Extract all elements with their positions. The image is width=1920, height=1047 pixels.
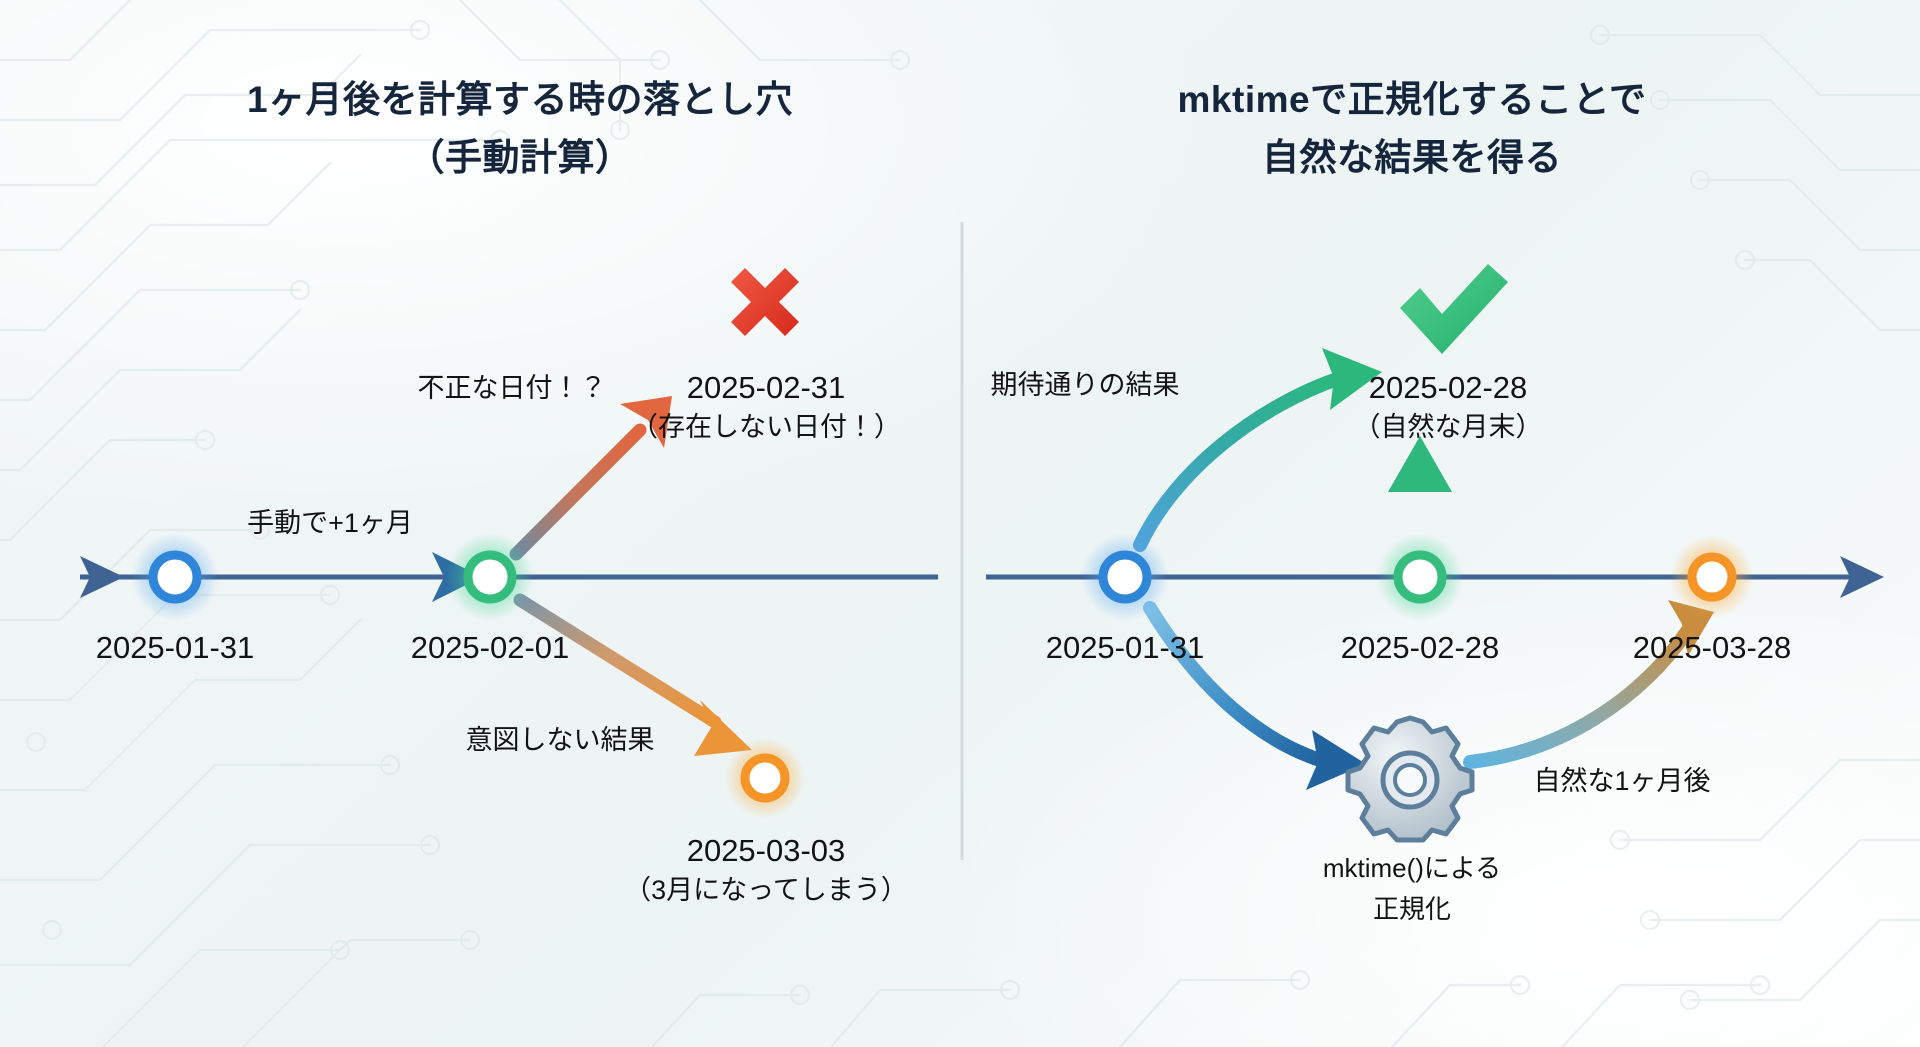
- node-2025-01-31-left: [131, 533, 219, 621]
- red-cross-icon: [731, 268, 799, 336]
- gear-caption-line1: mktime()による: [1323, 852, 1501, 886]
- arrow-natural-one-month-later: [1470, 600, 1714, 762]
- node-2025-03-03-outcome: [725, 738, 805, 818]
- left-panel-title-line2: （手動計算）: [408, 136, 633, 180]
- left-timeline-date-0: 2025-01-31: [96, 630, 255, 667]
- right-panel-title-line2: 自然な結果を得る: [1262, 136, 1562, 180]
- label-manual-add-month: 手動で+1ヶ月: [247, 508, 413, 540]
- arrow-manual-plus-one-month: [205, 552, 482, 602]
- outcome-invalid-date-note: （存在しない日付！）: [631, 412, 901, 444]
- gear-caption-line2: 正規化: [1373, 893, 1451, 927]
- outcome-invalid-date-value: 2025-02-31: [687, 370, 846, 407]
- outcome-rollover-date-note: （3月になってしまう）: [624, 875, 908, 907]
- right-timeline-date-1: 2025-02-28: [1341, 630, 1500, 667]
- outcome-rollover-date-value: 2025-03-03: [687, 833, 846, 870]
- diagram-canvas: 1ヶ月後を計算する時の落とし穴 （手動計算） mktimeで正規化することで 自…: [0, 0, 1920, 1047]
- right-timeline-date-2: 2025-03-28: [1633, 630, 1792, 667]
- arrow-normalized-up: [1388, 436, 1452, 545]
- node-2025-01-31-right: [1081, 533, 1169, 621]
- node-2025-02-01-left: [446, 533, 534, 621]
- right-panel-title-line1: mktimeで正規化することで: [1178, 78, 1647, 122]
- node-2025-03-28-right: [1670, 535, 1754, 619]
- outcome-normalized-date-value: 2025-02-28: [1369, 370, 1528, 407]
- green-check-icon: [1400, 264, 1508, 354]
- outcome-normalized-date-note: （自然な月末）: [1354, 412, 1543, 444]
- node-2025-02-28-right: [1376, 533, 1464, 621]
- label-invalid-date: 不正な日付！？: [418, 373, 607, 405]
- left-timeline-date-1: 2025-02-01: [411, 630, 570, 667]
- label-natural-one-month-later: 自然な1ヶ月後: [1533, 766, 1710, 798]
- gear-icon: [1348, 718, 1472, 840]
- right-timeline-date-0: 2025-01-31: [1046, 630, 1205, 667]
- left-panel-title-line1: 1ヶ月後を計算する時の落とし穴: [247, 78, 793, 122]
- label-unintended-result: 意図しない結果: [466, 725, 655, 757]
- label-expected-result: 期待通りの結果: [991, 370, 1180, 402]
